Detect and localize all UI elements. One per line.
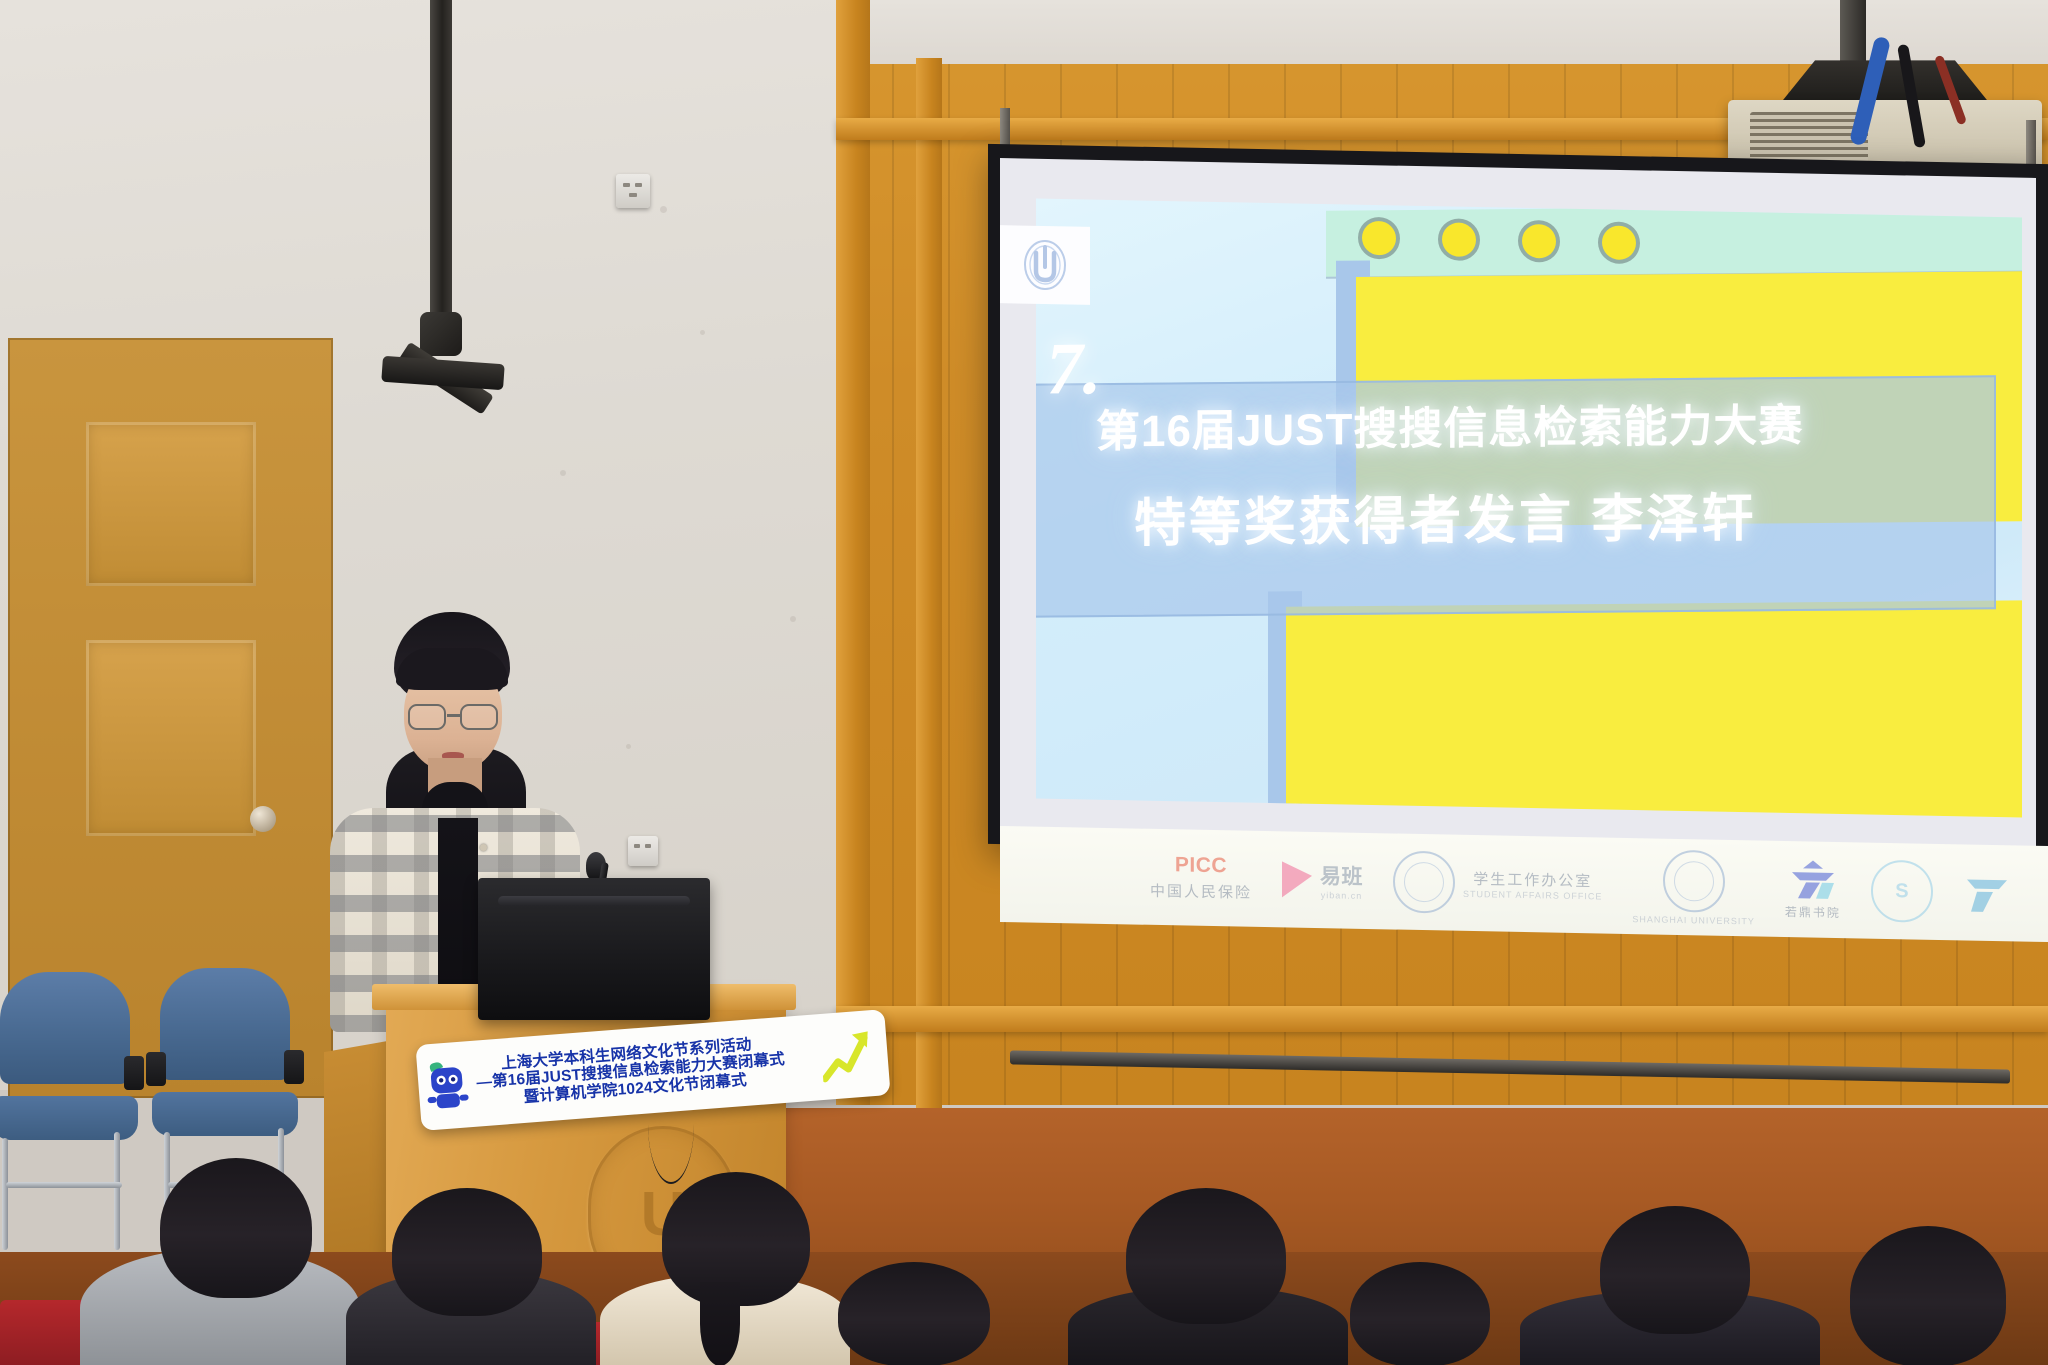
growth-arrow-icon [819, 1025, 881, 1085]
wall-mark-2 [700, 330, 705, 335]
extra-mark-icon [1963, 869, 2011, 916]
chair-armrest-right [284, 1050, 304, 1084]
chair-armrest-right [124, 1056, 144, 1090]
presenter-glasses-bridge [447, 714, 461, 717]
slide-subtitle-line: 特等奖获得者发言 李泽轩 [1134, 476, 1756, 556]
upper-wall-strip [836, 0, 2048, 64]
blue-robot-mascot [423, 1059, 473, 1112]
yiban-triangle-icon [1282, 861, 1312, 898]
presentation-slide: 7. 第16届JUST搜搜信息检索能力大赛 特等奖获得者发言 李泽轩 [1036, 199, 2022, 818]
presenter-glasses-right [460, 704, 498, 730]
picc-logo: PICC 中国人民保险 [1150, 853, 1252, 903]
su-mark-icon [1021, 237, 1069, 294]
presenter-glasses-left [408, 704, 446, 730]
audience-head-1 [160, 1158, 312, 1298]
student-affairs-office-logo: 学生工作办公室 STUDENT AFFAIRS OFFICE [1393, 850, 1602, 916]
slide-dot-1 [1362, 221, 1396, 256]
university-seal-icon [1663, 849, 1725, 912]
door-panel-lower [86, 640, 256, 836]
chair-leg-front [114, 1132, 120, 1250]
wall-outlet-upper[interactable] [616, 174, 650, 208]
wall-beam-mid [916, 58, 942, 1108]
chair-rail [6, 1182, 122, 1188]
presenter-jacket-button-1 [480, 844, 487, 851]
door-knob[interactable] [250, 806, 276, 832]
slide-mint-bar [1326, 204, 2022, 277]
slide-dot-4 [1602, 225, 1636, 260]
shanghai-university-logo [1000, 225, 1090, 305]
lecture-hall-photo: 7. 第16届JUST搜搜信息检索能力大赛 特等奖获得者发言 李泽轩 PICC … [0, 0, 2048, 1365]
circular-badge-icon: S [1871, 860, 1933, 923]
sponsor-logo-strip: PICC 中国人民保险 易班 yiban.cn 学生工作办公室 STUDENT … [1000, 826, 2048, 942]
audience-head-4 [838, 1262, 990, 1365]
audience-head-6 [1350, 1262, 1490, 1365]
projector-ceiling-stem [1840, 0, 1866, 66]
chair-backrest [160, 968, 290, 1080]
wall-beam-left [836, 0, 870, 1105]
yiban-logo: 易班 yiban.cn [1282, 859, 1363, 901]
university-seal-logo: SHANGHAI UNIVERSITY [1632, 849, 1755, 926]
ruoding-mark-icon [1786, 858, 1840, 901]
circular-badge-logo: S [1871, 860, 1933, 923]
wall-ledge-lower [836, 1006, 2048, 1032]
wall-mark-4 [790, 616, 796, 622]
wall-mark-5 [626, 744, 631, 749]
audience-head-2 [392, 1188, 542, 1316]
chair-seat [152, 1092, 298, 1136]
chair-leg-rear [2, 1138, 8, 1250]
slide-title-line: 第16届JUST搜搜信息检索能力大赛 [1096, 389, 1803, 459]
su-seal-icon [1393, 850, 1455, 913]
chair-backrest [0, 972, 130, 1084]
extra-logo [1963, 869, 2011, 916]
wall-outlet-lower[interactable] [628, 836, 658, 866]
audience-ponytail-3 [700, 1282, 740, 1365]
wall-mark-3 [560, 470, 566, 476]
presenter-hair-fringe [396, 648, 508, 690]
slide-yellow-panel-lower [1286, 600, 2022, 818]
banner-text-block: 上海大学本科生网络文化节系列活动 —第16届JUST搜搜信息检索能力大赛闭幕式 … [475, 1032, 818, 1110]
ruoding-academy-logo: 若鼎书院 [1785, 858, 1841, 921]
audience-head-7 [1600, 1206, 1750, 1334]
robot-mascot-icon [423, 1059, 473, 1112]
audience-head-5 [1126, 1188, 1286, 1324]
mount-arm-elbow [420, 312, 462, 356]
monitor-top-edge [498, 896, 690, 906]
mount-arm-vertical [430, 0, 452, 330]
slide-dot-3 [1522, 224, 1556, 259]
audience-head-8 [1850, 1226, 2006, 1365]
wall-mark-1 [660, 206, 667, 213]
door-panel-upper [86, 422, 256, 586]
chair-armrest-left [146, 1052, 166, 1086]
slide-dot-2 [1442, 222, 1476, 257]
